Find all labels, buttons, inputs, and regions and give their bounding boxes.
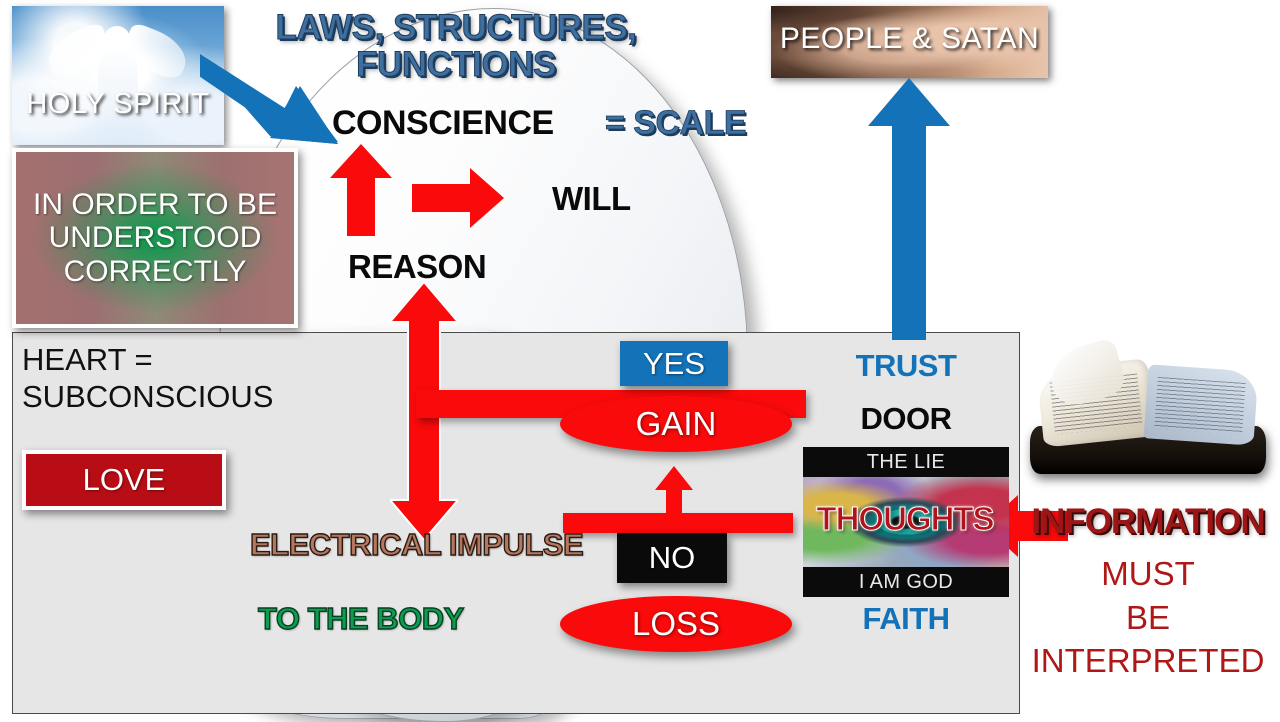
- thoughts-label: THOUGHTS: [795, 500, 1015, 538]
- no-label: NO: [649, 540, 696, 576]
- trust-label: TRUST: [803, 348, 1009, 384]
- holy-spirit-label: HOLY SPIRIT: [12, 88, 224, 121]
- gain-ellipse[interactable]: GAIN: [560, 396, 792, 452]
- the-lie-bar: THE LIE: [803, 447, 1009, 477]
- electrical-impulse-label: ELECTRICAL IMPULSE: [250, 527, 583, 563]
- arrow-up-icon: [330, 144, 392, 236]
- loss-ellipse[interactable]: LOSS: [560, 596, 792, 652]
- understood-line-3: CORRECTLY: [33, 255, 277, 289]
- faith-label: FAITH: [803, 601, 1009, 637]
- love-box: LOVE: [22, 450, 226, 510]
- door-label: DOOR: [803, 401, 1009, 437]
- understood-line-2: UNDERSTOOD: [33, 221, 277, 255]
- heart-line-1: HEART =: [22, 342, 342, 379]
- will-label: WILL: [552, 180, 631, 218]
- arrow-right-icon: [412, 168, 504, 228]
- must-line-2: BE: [1022, 596, 1274, 640]
- understood-correctly-text: IN ORDER TO BE UNDERSTOOD CORRECTLY: [33, 188, 277, 289]
- slide-canvas: HOLY SPIRIT IN ORDER TO BE UNDERSTOOD CO…: [0, 0, 1280, 720]
- i-am-god-bar: I AM GOD: [803, 567, 1009, 597]
- holy-spirit-image: HOLY SPIRIT: [12, 6, 224, 145]
- people-and-satan-label: PEOPLE & SATAN: [771, 22, 1048, 56]
- arrow-up-icon: [655, 466, 693, 538]
- information-label: INFORMATION: [1022, 502, 1274, 542]
- reason-label: REASON: [348, 248, 486, 286]
- heart-line-2: SUBCONSCIOUS: [22, 379, 342, 416]
- arrow-diagonal-down-right-icon: [200, 52, 340, 146]
- love-label: LOVE: [83, 462, 166, 498]
- equals-scale-label: = SCALE: [605, 104, 746, 143]
- people-and-satan-image: PEOPLE & SATAN: [771, 6, 1048, 78]
- understood-line-1: IN ORDER TO BE: [33, 188, 277, 222]
- conscience-label: CONSCIENCE: [332, 104, 554, 143]
- arrow-up-icon: [868, 78, 950, 340]
- yes-box[interactable]: YES: [620, 341, 728, 386]
- i-am-god-label: I AM GOD: [859, 571, 953, 594]
- gain-label: GAIN: [636, 405, 717, 443]
- yes-label: YES: [643, 346, 705, 382]
- must-be-interpreted-label: MUST BE INTERPRETED: [1022, 552, 1274, 683]
- laws-heading-line-1: LAWS, STRUCTURES,: [246, 10, 666, 47]
- understood-correctly-box: IN ORDER TO BE UNDERSTOOD CORRECTLY: [12, 148, 298, 328]
- open-bible-icon: [1022, 338, 1274, 498]
- must-line-1: MUST: [1022, 552, 1274, 596]
- must-line-3: INTERPRETED: [1022, 639, 1274, 683]
- loss-label: LOSS: [632, 605, 720, 643]
- the-lie-label: THE LIE: [867, 451, 945, 474]
- no-box[interactable]: NO: [617, 533, 727, 583]
- heart-subconscious-label: HEART = SUBCONSCIOUS: [22, 342, 342, 415]
- to-the-body-label: TO THE BODY: [258, 601, 464, 637]
